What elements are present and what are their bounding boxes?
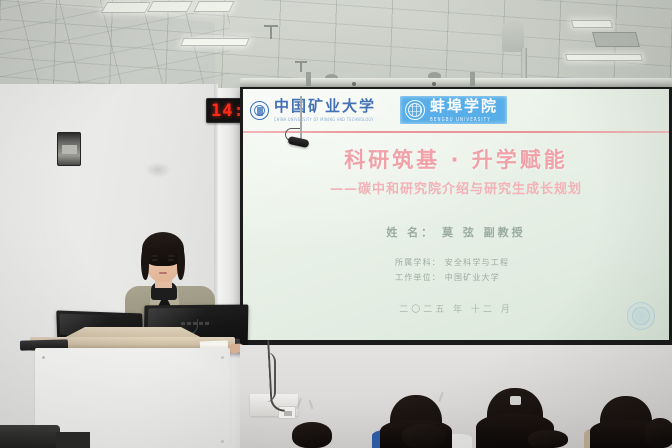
podium-screw <box>221 356 224 359</box>
ceiling-hook <box>264 25 278 27</box>
bengbu-logo: 蚌埠学院 BENGBU UNIVERSITY <box>400 96 507 124</box>
wall-smudge <box>145 162 171 178</box>
projection-screen-rail <box>240 78 672 87</box>
podium-screw <box>42 356 45 359</box>
rail-fixture <box>352 82 356 86</box>
cumt-logo: 中国矿业大学 CHINA UNIVERSITY OF MINING AND TE… <box>250 99 376 121</box>
ceiling-air-vent <box>592 32 640 47</box>
slide-presenter-name: 姓 名： 莫 弦 副教授 <box>243 224 669 240</box>
ceiling-light-panel <box>193 1 234 12</box>
slide-date: 二〇二五 年 十二 月 <box>243 302 669 315</box>
ceiling-light-panel <box>147 1 193 12</box>
monitor-brand-label <box>182 322 212 325</box>
lecture-hall-photo: 14: 中国矿业大学 CHINA UNIVERSITY OF MINING AN… <box>0 0 672 448</box>
presenter-hair-left <box>141 246 149 280</box>
slide-header-divider <box>243 131 669 133</box>
slide-watermark-logo <box>627 302 655 330</box>
bengbu-seal-icon <box>405 100 425 120</box>
ceiling-tile-grid-left <box>0 0 230 96</box>
slide-subtitle: ——碳中和研究院介绍与研究生成长规划 <box>243 178 669 197</box>
slide-logo-header: 中国矿业大学 CHINA UNIVERSITY OF MINING AND TE… <box>243 89 669 131</box>
digital-wall-clock: 14: <box>206 98 243 123</box>
slide-title: 科研筑基 · 升学赋能 <box>243 144 669 174</box>
audience-head <box>645 418 672 448</box>
front-desk-surface <box>56 432 90 448</box>
projector-mount-pole <box>521 48 527 82</box>
audience-head <box>402 424 446 448</box>
presenter-eyebrow-left <box>151 255 158 257</box>
cumt-logo-en: CHINA UNIVERSITY OF MINING AND TECHNOLOG… <box>274 117 376 122</box>
projected-slide: 中国矿业大学 CHINA UNIVERSITY OF MINING AND TE… <box>243 89 669 340</box>
screen-rail-bracket <box>306 72 311 86</box>
ceiling-light-panel <box>571 20 613 28</box>
bengbu-logo-cn: 蚌埠学院 <box>430 99 498 114</box>
ceiling-hook <box>295 61 307 63</box>
ceiling-light-panel <box>101 2 151 13</box>
ceiling-light-panel <box>565 54 642 61</box>
cumt-seal-icon <box>250 101 269 120</box>
screen-rail-bracket <box>470 72 475 86</box>
wall-mounted-device <box>57 132 81 166</box>
projection-screen-frame: 中国矿业大学 CHINA UNIVERSITY OF MINING AND TE… <box>240 87 672 345</box>
cumt-logo-cn: 中国矿业大学 <box>274 99 376 114</box>
microphone-boom-pole <box>300 96 302 144</box>
bengbu-logo-en: BENGBU UNIVERSITY <box>430 116 498 122</box>
slide-meta-block: 所属学科： 安全科学与工程 工作单位： 中国矿业大学 <box>395 255 575 285</box>
audience-hair-clip <box>510 396 521 405</box>
presenter-eyebrow-right <box>168 255 175 257</box>
ceiling-hook <box>270 25 272 39</box>
clock-time-display: 14: <box>211 101 243 121</box>
slide-discipline: 所属学科： 安全科学与工程 <box>395 255 575 270</box>
microphone-cable-loop <box>266 352 276 402</box>
rail-fixture <box>432 82 436 86</box>
slide-affiliation: 工作单位： 中国矿业大学 <box>395 270 575 285</box>
audience-head <box>528 430 568 448</box>
presenter-mouth <box>159 272 167 274</box>
presenter-hair-right <box>177 246 185 280</box>
podium-screw <box>221 440 224 443</box>
ceiling-light-panel <box>180 38 250 46</box>
audience-head <box>292 422 332 448</box>
front-desk-surface <box>0 425 60 448</box>
